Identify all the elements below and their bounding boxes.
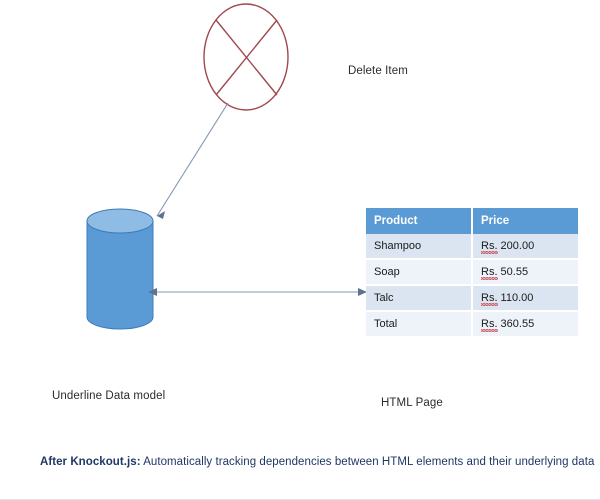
cell-price: Rs. 200.00 — [472, 234, 578, 259]
diagram-canvas: Delete Item Underline Data model HTML Pa… — [0, 0, 600, 500]
delete-marker-icon — [204, 4, 288, 110]
cell-product: Talc — [366, 285, 472, 311]
cell-price: Rs. 50.55 — [472, 259, 578, 285]
delete-item-label: Delete Item — [348, 65, 408, 77]
delete-to-model-connector — [157, 103, 228, 219]
cell-price: Rs. 360.55 — [472, 311, 578, 337]
footer-note-rest: Automatically tracking dependencies betw… — [141, 456, 595, 468]
amount-token: 110.00 — [498, 292, 534, 304]
data-model-cylinder-icon — [87, 209, 153, 329]
column-header-price: Price — [472, 208, 578, 234]
price-table: Product Price Shampoo Rs. 200.00 Soap Rs… — [366, 208, 578, 338]
cell-product: Shampoo — [366, 234, 472, 259]
amount-token: 200.00 — [498, 240, 535, 252]
currency-token: Rs. — [481, 318, 498, 330]
column-header-product: Product — [366, 208, 472, 234]
table-row: Talc Rs. 110.00 — [366, 285, 578, 311]
table-row: Total Rs. 360.55 — [366, 311, 578, 337]
footer-note-strong: After Knockout.js: — [40, 456, 141, 468]
html-page-caption: HTML Page — [381, 397, 443, 409]
data-model-caption: Underline Data model — [52, 390, 165, 402]
currency-token: Rs. — [481, 292, 498, 304]
cell-price: Rs. 110.00 — [472, 285, 578, 311]
model-to-table-connector — [148, 288, 367, 296]
amount-token: 360.55 — [498, 318, 535, 330]
table-header-row: Product Price — [366, 208, 578, 234]
amount-token: 50.55 — [498, 266, 529, 278]
table-body: Shampoo Rs. 200.00 Soap Rs. 50.55 Talc R… — [366, 234, 578, 337]
table-row: Shampoo Rs. 200.00 — [366, 234, 578, 259]
currency-token: Rs. — [481, 266, 498, 278]
currency-token: Rs. — [481, 240, 498, 252]
cell-product: Soap — [366, 259, 472, 285]
footer-note: After Knockout.js: Automatically trackin… — [40, 456, 594, 468]
table-row: Soap Rs. 50.55 — [366, 259, 578, 285]
cell-product: Total — [366, 311, 472, 337]
